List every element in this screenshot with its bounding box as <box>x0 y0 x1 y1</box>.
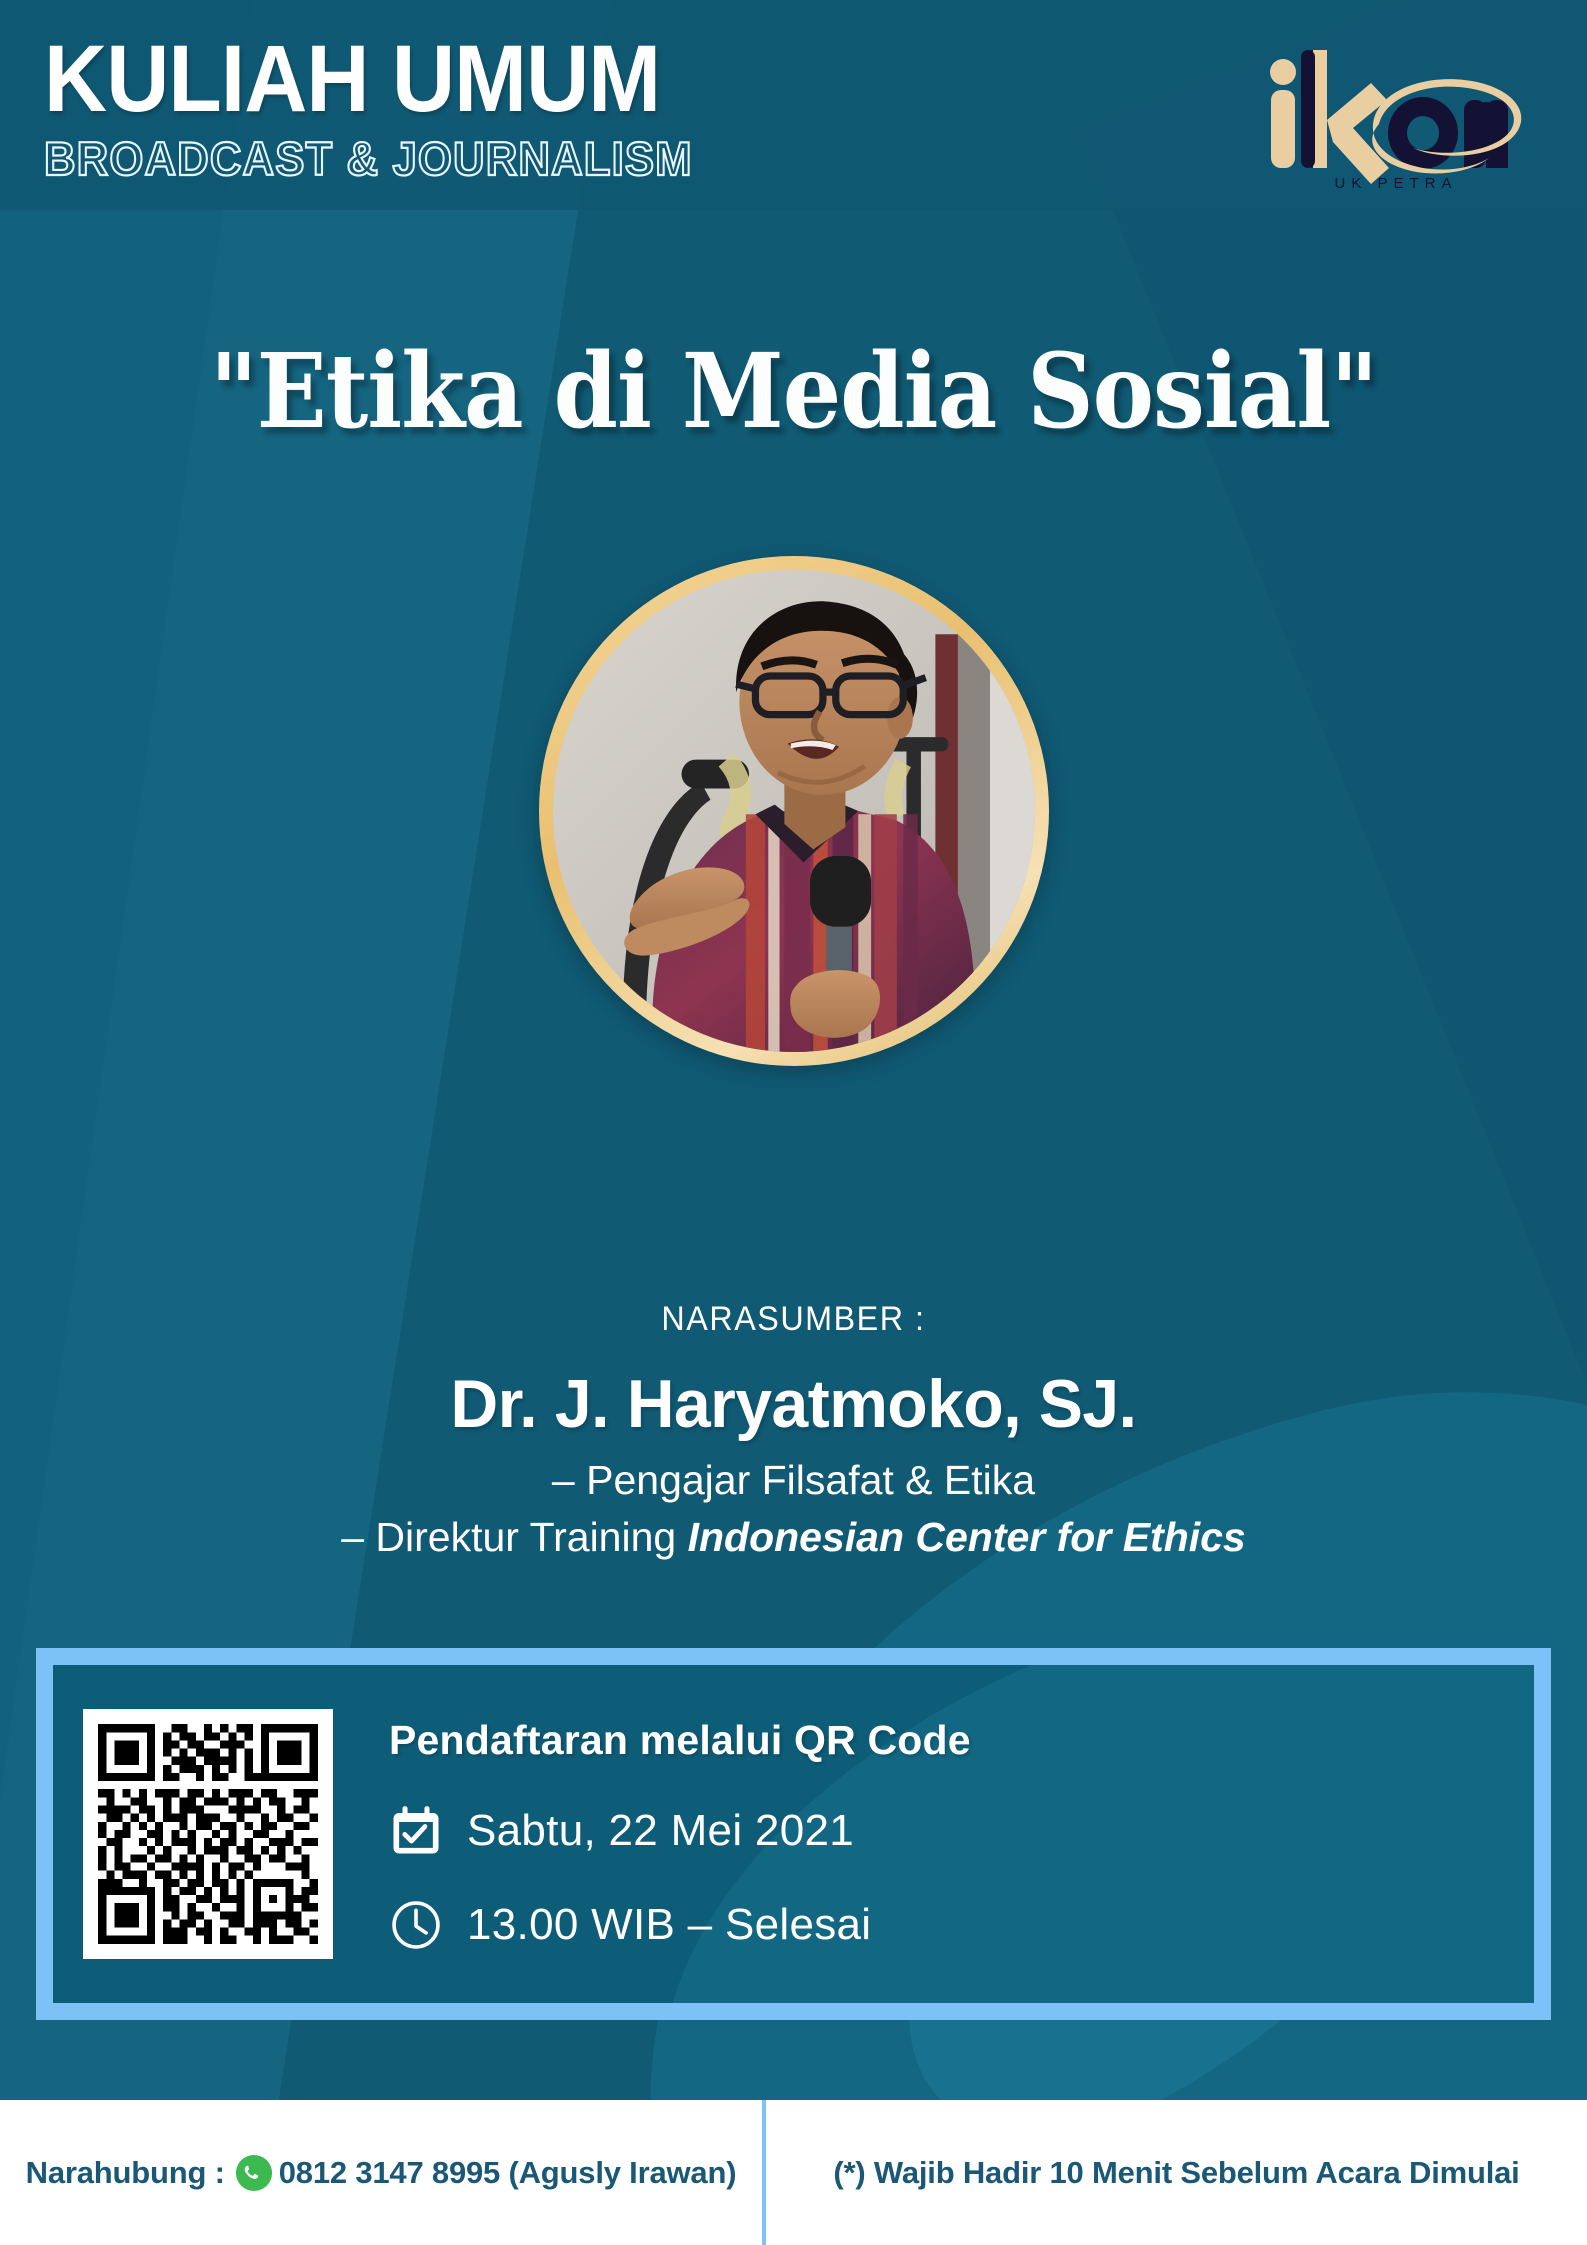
registration-text: Pendaftaran melalui QR Code Sabtu, 22 Me… <box>333 1717 1504 1952</box>
speaker-role-2-organization: Indonesian Center for Ethics <box>688 1514 1246 1560</box>
registration-date-row: Sabtu, 22 Mei 2021 <box>389 1804 1504 1858</box>
poster-header: KULIAH UMUM BROADCAST & JOURNALISM <box>0 0 1587 193</box>
speaker-role-2: – Direktur Training Indonesian Center fo… <box>0 1514 1587 1561</box>
registration-panel: Pendaftaran melalui QR Code Sabtu, 22 Me… <box>36 1648 1551 2020</box>
speaker-name: Dr. J. Haryatmoko, SJ. <box>24 1365 1563 1443</box>
footer-phone: 0812 3147 8995 (Agusly Irawan) <box>279 2155 737 2191</box>
event-subtitle: BROADCAST & JOURNALISM <box>44 131 693 186</box>
footer-contact-label: Narahubung : <box>26 2155 225 2191</box>
registration-panel-inner: Pendaftaran melalui QR Code Sabtu, 22 Me… <box>53 1665 1534 2003</box>
registration-time: 13.00 WIB – Selesai <box>467 1900 871 1950</box>
poster-canvas: KULIAH UMUM BROADCAST & JOURNALISM <box>0 0 1587 2245</box>
speaker-role-2-prefix: – Direktur Training <box>341 1514 687 1560</box>
registration-heading: Pendaftaran melalui QR Code <box>389 1717 1504 1764</box>
speaker-info: NARASUMBER : Dr. J. Haryatmoko, SJ. – Pe… <box>0 1300 1587 1561</box>
speaker-role-1: – Pengajar Filsafat & Etika <box>0 1457 1587 1504</box>
speaker-portrait <box>553 570 1035 1052</box>
logo-institution-text: UK PETRA <box>1334 175 1457 192</box>
qr-code[interactable] <box>83 1709 333 1959</box>
registration-time-row: 13.00 WIB – Selesai <box>389 1898 1504 1952</box>
clock-icon <box>389 1898 443 1952</box>
registration-date: Sabtu, 22 Mei 2021 <box>467 1806 854 1856</box>
event-type-title: KULIAH UMUM <box>44 36 686 123</box>
whatsapp-icon[interactable] <box>235 2154 273 2192</box>
footer-note: (*) Wajib Hadir 10 Menit Sebelum Acara D… <box>766 2155 1587 2191</box>
header-title-block: KULIAH UMUM BROADCAST & JOURNALISM <box>44 28 741 186</box>
calendar-check-icon <box>389 1804 443 1858</box>
footer-contact: Narahubung : 0812 3147 8995 (Agusly Iraw… <box>0 2154 762 2192</box>
ikom-logo: UK PETRA <box>1261 28 1531 193</box>
speaker-portrait-frame <box>539 556 1049 1066</box>
poster-footer: Narahubung : 0812 3147 8995 (Agusly Iraw… <box>0 2100 1587 2245</box>
poster-main-title: "Etika di Media Sosial" <box>0 345 1587 437</box>
main-title-text: "Etika di Media Sosial" <box>210 339 1378 442</box>
speaker-label: NARASUMBER : <box>40 1300 1548 1339</box>
